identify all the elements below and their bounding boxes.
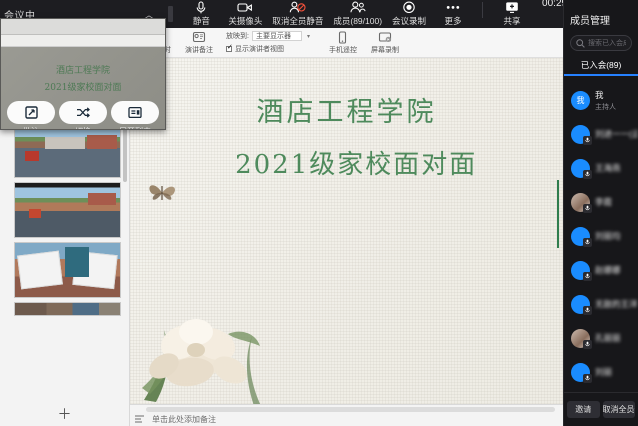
expand-list-label: 展开列表 (119, 126, 151, 130)
speaking-indicator-bar (557, 180, 559, 248)
notes-placeholder[interactable]: 单击此处添加备注 (152, 414, 216, 425)
search-placeholder: 搜索已入会成员 (588, 38, 626, 48)
mute-all-icon (289, 1, 306, 14)
projection-settings: 放映到: 主要显示器 ▾ 显示演讲者视图 (220, 31, 310, 54)
phone-remote-label: 手机遥控 (329, 45, 357, 55)
microphone-muted-icon (583, 204, 592, 213)
participant-info: 孔丽丽 (595, 332, 621, 344)
floating-preview-title: 酒店工程学院 (56, 63, 110, 76)
toolbar-drag-handle[interactable] (168, 6, 174, 22)
participant-info: 赵娜娜 (595, 264, 621, 276)
participant-name: 刘进一一(云职院) (595, 128, 638, 140)
magnolia-flower-decoration-icon (134, 270, 274, 404)
avatar (571, 125, 590, 144)
avatar: 我 (571, 91, 590, 110)
mute-button[interactable]: 静音 (179, 0, 223, 27)
avatar (571, 193, 590, 212)
annotate-icon (25, 106, 38, 119)
floating-window-titlebar[interactable] (1, 19, 165, 35)
participant-name: 刘丽均 (595, 230, 621, 242)
annotate-pill[interactable] (7, 101, 55, 124)
slide-thumbnail-4[interactable]: 4 (14, 182, 121, 238)
microphone-muted-icon (583, 136, 592, 145)
annotate-button[interactable]: 批注 (7, 101, 55, 130)
slide-subtitle: 2021级家校面对面 (235, 144, 477, 181)
presentation-ribbon: 排练计时 演讲备注 放映到: 主要显示器 ▾ 显示演讲者视图 (130, 28, 563, 58)
participant-info: 李霞 (595, 196, 612, 208)
phone-remote-button[interactable]: 手机遥控 (322, 30, 364, 55)
participant-info: 无敌的王洋... (595, 298, 638, 310)
camera-button[interactable]: 关摄像头 (223, 0, 267, 27)
presenter-notes-label: 演讲备注 (185, 45, 213, 55)
participants-label: 成员(89/100) (333, 15, 382, 27)
more-label: 更多 (445, 15, 462, 27)
participant-row[interactable]: 王海燕 (564, 151, 638, 185)
participant-name: 赵娜娜 (595, 264, 621, 276)
annotate-label: 批注 (23, 126, 39, 130)
microphone-muted-icon (583, 306, 592, 315)
avatar (571, 159, 590, 178)
expand-list-icon (128, 106, 142, 119)
participant-row[interactable]: 无敌的王洋... (564, 287, 638, 321)
toolbar-divider (482, 2, 483, 18)
slide-thumbnail-3[interactable]: 3 (14, 122, 121, 178)
sidebar-footer: 邀请 取消全员静音 (564, 392, 638, 426)
switch-icon (76, 106, 90, 119)
projection-select[interactable]: 主要显示器 (252, 31, 302, 41)
meeting-share-screen: 2 校园生活 3 4 (0, 0, 638, 426)
screen-record-label: 屏幕录制 (371, 45, 399, 55)
butterfly-decoration-icon (146, 180, 180, 206)
participant-row[interactable]: 刘丽 (564, 355, 638, 389)
invite-button[interactable]: 邀请 (567, 401, 600, 418)
record-label: 会议录制 (392, 15, 426, 27)
participant-name: 我 (595, 89, 616, 101)
sidebar-title: 成员管理 (564, 0, 638, 35)
tab-joined[interactable]: 已入会(89) (564, 59, 638, 76)
participant-info: 我 主持人 (595, 89, 616, 112)
participant-name: 刘丽 (595, 366, 612, 378)
participants-sidebar: 成员管理 搜索已入会成员 已入会(89) 我 我 主持人 (563, 0, 638, 426)
video-camera-icon (237, 1, 253, 14)
participant-info: 刘进一一(云职院) (595, 128, 638, 140)
participant-name: 王海燕 (595, 162, 621, 174)
microphone-muted-icon (583, 170, 592, 179)
more-button[interactable]: 更多 (431, 0, 475, 27)
phone-remote-icon (337, 30, 348, 44)
mute-all-sidebar-button[interactable]: 取消全员静音 (603, 401, 636, 418)
participant-list[interactable]: 我 我 主持人 刘进一一(云职院) (564, 83, 638, 392)
microphone-muted-icon (583, 340, 592, 349)
microphone-muted-icon (583, 238, 592, 247)
switch-label: 切换 (75, 126, 91, 130)
projection-label: 放映到: (226, 31, 249, 41)
floating-window-preview: 酒店工程学院 2021级家校面对面 批注 (1, 47, 165, 129)
participant-name: 李霞 (595, 196, 612, 208)
presenter-notes-button[interactable]: 演讲备注 (178, 30, 220, 55)
notes-icon (135, 415, 144, 423)
participant-row[interactable]: 刘进一一(云职院) (564, 117, 638, 151)
participants-button[interactable]: 成员(89/100) (328, 0, 387, 27)
mute-label: 静音 (193, 15, 210, 27)
floating-window-toolbar (1, 35, 165, 47)
share-label: 共享 (504, 15, 521, 27)
avatar-initials: 我 (577, 95, 585, 106)
add-slide-button[interactable]: ＋ (0, 404, 129, 424)
screen-record-icon (378, 30, 392, 44)
participant-row[interactable]: 我 我 主持人 (564, 83, 638, 117)
microphone-muted-icon (583, 272, 592, 281)
avatar (571, 227, 590, 246)
camera-label: 关摄像头 (228, 15, 262, 27)
microphone-muted-icon (583, 374, 592, 383)
notes-bar[interactable]: 单击此处添加备注 (130, 404, 563, 426)
slide-background: 酒店工程学院 2021级家校面对面 (130, 58, 563, 404)
slide-horizontal-scrollbar[interactable] (146, 407, 555, 412)
expand-list-pill[interactable] (111, 101, 159, 124)
record-icon (402, 1, 416, 14)
floating-presenter-window[interactable]: 酒店工程学院 2021级家校面对面 批注 (0, 18, 166, 130)
share-screen-icon (505, 1, 519, 14)
participant-row[interactable]: 刘丽均 (564, 219, 638, 253)
slide-thumbnail-6[interactable]: 6 (14, 302, 121, 316)
avatar (571, 329, 590, 348)
mute-all-button[interactable]: 取消全员静音 (267, 0, 328, 27)
floating-window-actions: 批注 切换 (1, 101, 165, 130)
chevron-down-icon[interactable]: ▾ (307, 33, 310, 40)
switch-button[interactable]: 切换 (59, 101, 107, 130)
tab-joined-label: 已入会(89) (581, 60, 622, 70)
participant-role: 主持人 (595, 102, 616, 112)
projection-row[interactable]: 放映到: 主要显示器 ▾ (226, 31, 310, 41)
presenter-view-checkbox[interactable] (226, 46, 232, 52)
presenter-view-label: 显示演讲者视图 (235, 44, 284, 54)
participant-info: 王海燕 (595, 162, 621, 174)
slide-thumbnail-5[interactable]: 5 (14, 242, 121, 298)
participant-search[interactable]: 搜索已入会成员 (570, 35, 632, 51)
expand-list-button[interactable]: 展开列表 (111, 101, 159, 130)
switch-pill[interactable] (59, 101, 107, 124)
participant-info: 刘丽均 (595, 230, 621, 242)
participant-row[interactable]: 孔丽丽 (564, 321, 638, 355)
avatar (571, 261, 590, 280)
floating-preview-subtitle: 2021级家校面对面 (45, 80, 122, 93)
avatar (571, 363, 590, 382)
presenter-view-row[interactable]: 显示演讲者视图 (226, 44, 310, 54)
mute-all-label: 取消全员静音 (272, 15, 323, 27)
participant-info: 刘丽 (595, 366, 612, 378)
slide-title: 酒店工程学院 (257, 90, 437, 129)
participant-name: 无敌的王洋... (595, 298, 638, 310)
screen-record-button[interactable]: 屏幕录制 (364, 30, 406, 55)
participant-row[interactable]: 李霞 (564, 185, 638, 219)
search-icon (576, 39, 585, 48)
share-button[interactable]: 共享 (490, 0, 534, 27)
microphone-icon (195, 1, 207, 14)
participant-row[interactable]: 赵娜娜 (564, 253, 638, 287)
participant-name: 孔丽丽 (595, 332, 621, 344)
avatar (571, 295, 590, 314)
record-button[interactable]: 会议录制 (387, 0, 431, 27)
slide-canvas[interactable]: 酒店工程学院 2021级家校面对面 (130, 58, 563, 404)
presenter-notes-icon (192, 30, 206, 44)
participants-icon (349, 1, 366, 14)
ellipsis-icon (445, 1, 461, 14)
